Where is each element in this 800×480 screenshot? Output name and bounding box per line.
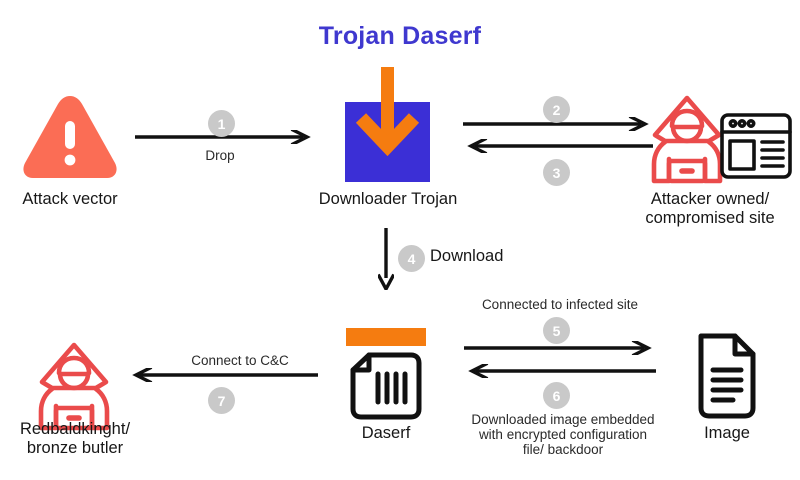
node-label-attack-vector: Attack vector	[0, 190, 140, 209]
edge-6-label: Downloaded image embedded with encrypted…	[438, 412, 688, 457]
edge-1-label: Drop	[175, 148, 265, 163]
edge-4-step-badge: 4	[398, 245, 425, 272]
edge-1-step-badge: 1	[208, 110, 235, 137]
badge-number: 5	[543, 317, 570, 344]
node-label-daserf: Daserf	[316, 424, 456, 443]
badge-number: 7	[208, 387, 235, 414]
node-label-attacker-site: Attacker owned/ compromised site	[620, 190, 800, 228]
browser-window-icon	[718, 108, 794, 184]
badge-number: 4	[398, 245, 425, 272]
badge-number: 3	[543, 159, 570, 186]
edge-5-step-badge: 5	[543, 317, 570, 344]
badge-number: 2	[543, 96, 570, 123]
badge-number: 6	[543, 382, 570, 409]
daserf-accent-bar	[346, 328, 426, 346]
node-label-redbaldknight: Redbaldkinght/ bronze butler	[0, 420, 150, 458]
document-bars-icon	[348, 352, 424, 420]
edge-4-arrow	[378, 228, 394, 290]
document-lines-icon	[692, 333, 762, 419]
diagram-canvas: Trojan Daserf Attack vector 1 Drop Downl…	[0, 0, 800, 480]
node-label-image: Image	[662, 424, 792, 443]
edge-7-step-badge: 7	[208, 387, 235, 414]
edge-3-arrow	[463, 139, 653, 153]
edge-4-label: Download	[430, 249, 550, 264]
page-title: Trojan Daserf	[0, 22, 800, 51]
edge-6-arrow	[464, 364, 656, 378]
edge-7-arrow	[128, 368, 318, 382]
warning-triangle-icon	[20, 92, 120, 182]
edge-5-label: Connected to infected site	[440, 297, 680, 312]
hacker-icon	[648, 93, 726, 188]
edge-3-step-badge: 3	[543, 159, 570, 186]
edge-6-step-badge: 6	[543, 382, 570, 409]
edge-7-label: Connect to C&C	[145, 353, 335, 368]
badge-number: 1	[208, 110, 235, 137]
node-label-downloader-trojan: Downloader Trojan	[293, 190, 483, 209]
edge-2-step-badge: 2	[543, 96, 570, 123]
download-box-icon	[340, 62, 435, 182]
edge-5-arrow	[464, 341, 656, 355]
